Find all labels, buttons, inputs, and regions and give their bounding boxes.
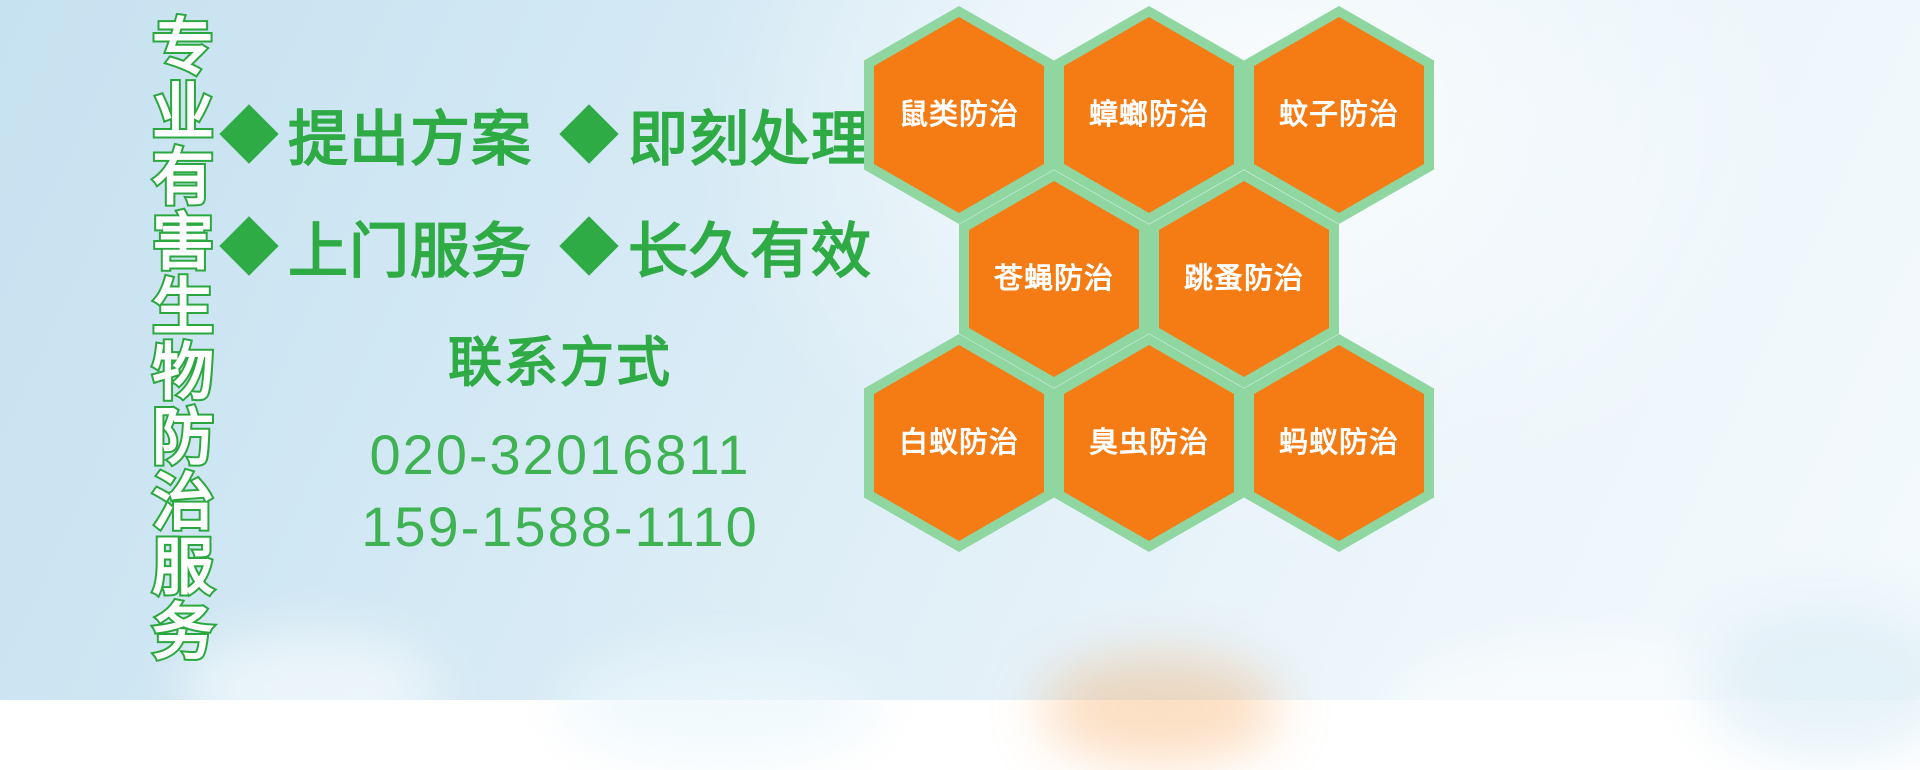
service-label: 蚊子防治 [1279, 101, 1399, 130]
service-hexagon-grid: 鼠类防治 蟑螂防治 蚊子防治 苍蝇防治 跳蚤防治 白蚁防治 [856, 0, 1456, 560]
service-label: 臭虫防治 [1089, 429, 1209, 458]
feature-list: 提出方案 即刻处理 上门服务 长久有效 [228, 78, 868, 302]
feature-label: 即刻处理 [628, 91, 872, 178]
diamond-icon [219, 104, 278, 163]
feature-item: 提出方案 [228, 91, 532, 178]
background-blur-blob [1040, 655, 1280, 765]
service-label: 蚂蚁防治 [1279, 429, 1399, 458]
hexagon-inner: 苍蝇防治 [969, 181, 1139, 377]
background-blur-blob [1380, 640, 1800, 770]
contact-block: 联系方式 020-32016811 159-1588-1110 [300, 318, 820, 562]
hexagon-inner: 臭虫防治 [1064, 345, 1234, 541]
feature-item: 上门服务 [228, 203, 532, 290]
service-label: 鼠类防治 [899, 101, 1019, 130]
feature-item: 长久有效 [568, 203, 872, 290]
phone-number-mobile[interactable]: 159-1588-1110 [300, 491, 820, 563]
pest-control-banner: 专业有害生物防治服务 提出方案 即刻处理 上门服务 长久有效 联系方式 0 [0, 0, 1920, 700]
phone-number-landline[interactable]: 020-32016811 [300, 419, 820, 491]
service-label: 跳蚤防治 [1184, 265, 1304, 294]
hexagon-inner: 跳蚤防治 [1159, 181, 1329, 377]
feature-label: 长久有效 [628, 203, 872, 290]
diamond-icon [559, 216, 618, 275]
diamond-icon [219, 216, 278, 275]
vertical-title: 专业有害生物防治服务 [108, 14, 208, 664]
background-blur-blob [1700, 600, 1920, 760]
diamond-icon [559, 104, 618, 163]
feature-label: 上门服务 [288, 203, 532, 290]
background-blur-blob [560, 650, 880, 760]
feature-label: 提出方案 [288, 91, 532, 178]
hexagon-inner: 鼠类防治 [874, 17, 1044, 213]
service-label: 苍蝇防治 [994, 265, 1114, 294]
feature-row: 提出方案 即刻处理 [228, 78, 868, 190]
hexagon-inner: 蚂蚁防治 [1254, 345, 1424, 541]
feature-item: 即刻处理 [568, 91, 872, 178]
service-label: 蟑螂防治 [1089, 101, 1209, 130]
contact-title: 联系方式 [300, 318, 820, 397]
background-blur-blob [180, 630, 440, 750]
hexagon-inner: 白蚁防治 [874, 345, 1044, 541]
service-label: 白蚁防治 [899, 429, 1019, 458]
hexagon-inner: 蟑螂防治 [1064, 17, 1234, 213]
hexagon-inner: 蚊子防治 [1254, 17, 1424, 213]
feature-row: 上门服务 长久有效 [228, 190, 868, 302]
